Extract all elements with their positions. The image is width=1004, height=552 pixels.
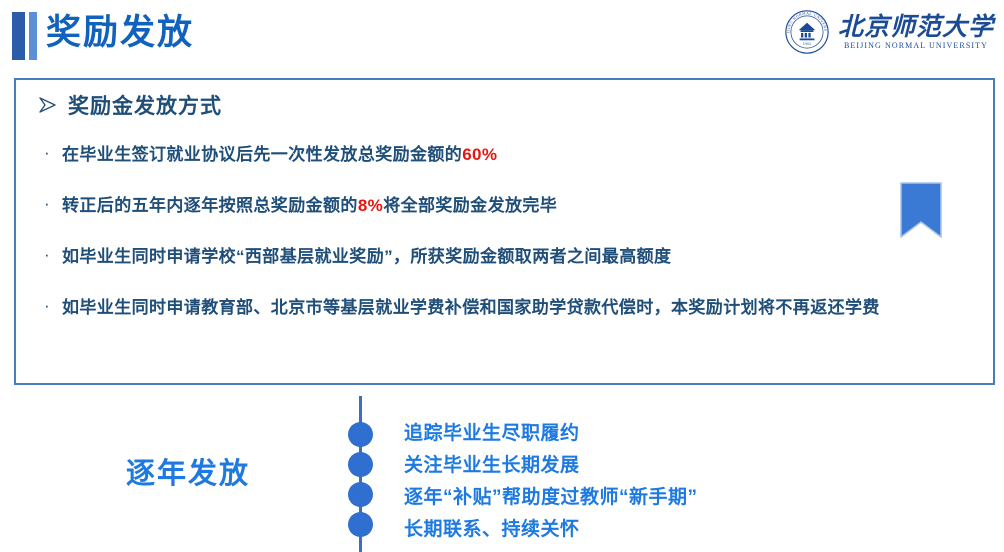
page-title: 奖励发放 <box>46 8 194 58</box>
bullet-marker-icon: · <box>40 189 62 219</box>
list-item: · 在毕业生签订就业协议后先一次性发放总奖励金额的60% <box>40 138 980 171</box>
bullet-run: 如毕业生同时申请教育部、北京市等基层就业学费补偿和国家助学贷款代偿时，本奖励计划… <box>62 298 880 317</box>
bullet-list: · 在毕业生签订就业协议后先一次性发放总奖励金额的60% · 转正后的五年内逐年… <box>40 138 980 342</box>
title-accent-bar-thin <box>29 12 37 60</box>
bullet-run: 如毕业生同时申请学校“西部基层就业奖励”，所获奖励金额取两者之间最高额度 <box>62 247 671 266</box>
slide-root: 奖励发放 1902 BEIJING NORMAL UNIVERSITY 北京师范… <box>0 0 1004 552</box>
bullet-run: 转正后的五年内逐年按照总奖励金额的 <box>62 196 358 215</box>
timeline-dot <box>348 512 373 537</box>
list-item: · 转正后的五年内逐年按照总奖励金额的8%将全部奖励金发放完毕 <box>40 189 980 222</box>
bullet-text-1: 转正后的五年内逐年按照总奖励金额的8%将全部奖励金发放完毕 <box>62 189 557 222</box>
university-name-cn: 北京师范大学 <box>838 14 994 39</box>
section-heading-label: 奖励金发放方式 <box>68 90 222 120</box>
bullet-text-0: 在毕业生签订就业协议后先一次性发放总奖励金额的60% <box>62 138 497 171</box>
bullet-marker-icon: · <box>40 240 62 270</box>
timeline-dot <box>348 422 373 447</box>
university-logo: 1902 BEIJING NORMAL UNIVERSITY 北京师范大学 BE… <box>784 9 994 55</box>
list-item: 追踪毕业生尽职履约 <box>404 418 964 450</box>
bullet-run: 将全部奖励金发放完毕 <box>383 196 557 215</box>
highlight-value: 60% <box>462 145 497 164</box>
title-accent-bars <box>12 12 37 60</box>
bullet-marker-icon: · <box>40 138 62 168</box>
svg-text:1902: 1902 <box>803 42 811 46</box>
bullet-text-2: 如毕业生同时申请学校“西部基层就业奖励”，所获奖励金额取两者之间最高额度 <box>62 240 671 273</box>
footer-list: 追踪毕业生尽职履约 关注毕业生长期发展 逐年“补贴”帮助度过教师“新手期” 长期… <box>404 418 964 546</box>
footer-label: 逐年发放 <box>126 450 250 492</box>
timeline-dot <box>348 452 373 477</box>
bullet-marker-icon: · <box>40 291 62 321</box>
university-name-block: 北京师范大学 BEIJING NORMAL UNIVERSITY <box>838 14 994 50</box>
content-panel: 奖励金发放方式 · 在毕业生签订就业协议后先一次性发放总奖励金额的60% · 转… <box>14 78 995 385</box>
timeline-graphic <box>340 396 382 552</box>
list-item: · 如毕业生同时申请教育部、北京市等基层就业学费补偿和国家助学贷款代偿时，本奖励… <box>40 291 980 324</box>
bookmark-ribbon-icon <box>900 182 942 238</box>
timeline-dot <box>348 482 373 507</box>
bullet-run: 在毕业生签订就业协议后先一次性发放总奖励金额的 <box>62 145 462 164</box>
highlight-value: 8% <box>358 196 383 215</box>
list-item: 关注毕业生长期发展 <box>404 450 964 482</box>
chevron-right-icon <box>38 96 58 114</box>
university-seal-icon: 1902 BEIJING NORMAL UNIVERSITY <box>784 9 830 55</box>
list-item: 逐年“补贴”帮助度过教师“新手期” <box>404 482 964 514</box>
bullet-text-3: 如毕业生同时申请教育部、北京市等基层就业学费补偿和国家助学贷款代偿时，本奖励计划… <box>62 291 880 324</box>
title-accent-bar-wide <box>12 12 25 60</box>
section-heading: 奖励金发放方式 <box>38 90 222 120</box>
list-item: 长期联系、持续关怀 <box>404 514 964 546</box>
list-item: · 如毕业生同时申请学校“西部基层就业奖励”，所获奖励金额取两者之间最高额度 <box>40 240 980 273</box>
university-name-en: BEIJING NORMAL UNIVERSITY <box>844 41 988 50</box>
